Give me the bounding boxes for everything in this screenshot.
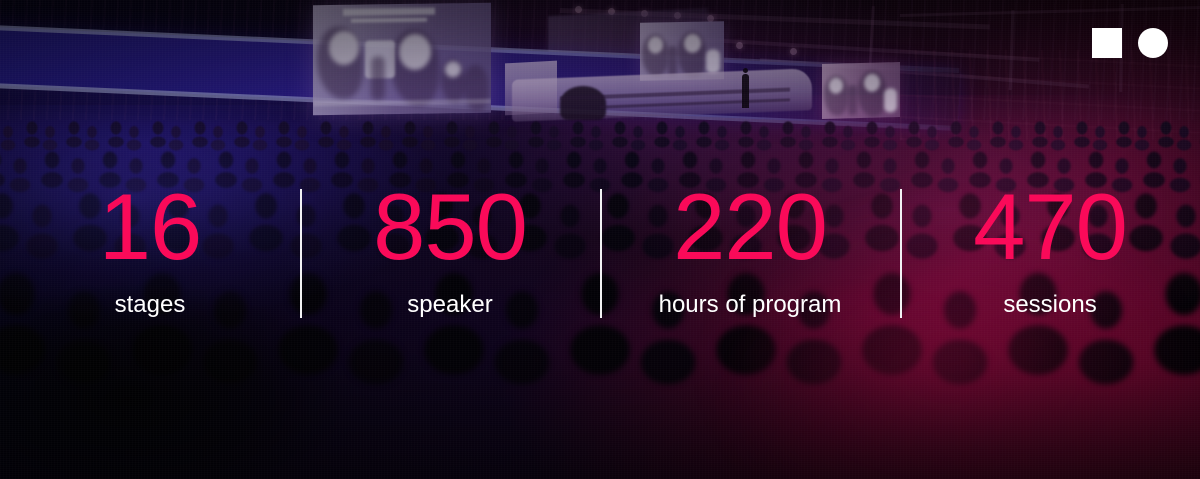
stat-value: 220 bbox=[673, 186, 827, 269]
stat-label: hours of program bbox=[659, 293, 842, 317]
stat-value: 850 bbox=[373, 186, 527, 269]
stat-label: sessions bbox=[1003, 293, 1096, 317]
stat-item-sessions: 470 sessions bbox=[900, 180, 1200, 317]
brand-logo-marks bbox=[1092, 28, 1168, 58]
stat-label: speaker bbox=[407, 293, 492, 317]
square-mark-icon bbox=[1092, 28, 1122, 58]
stat-item-stages: 16 stages bbox=[0, 180, 300, 317]
stat-item-speaker: 850 speaker bbox=[300, 180, 600, 317]
stat-label: stages bbox=[115, 293, 186, 317]
stat-value: 16 bbox=[99, 186, 202, 269]
circle-mark-icon bbox=[1138, 28, 1168, 58]
stat-value: 470 bbox=[973, 186, 1127, 269]
statistics-row: 16 stages 850 speaker 220 hours of progr… bbox=[0, 180, 1200, 317]
event-stats-hero: 16 stages 850 speaker 220 hours of progr… bbox=[0, 0, 1200, 479]
stat-item-hours-of-program: 220 hours of program bbox=[600, 180, 900, 317]
